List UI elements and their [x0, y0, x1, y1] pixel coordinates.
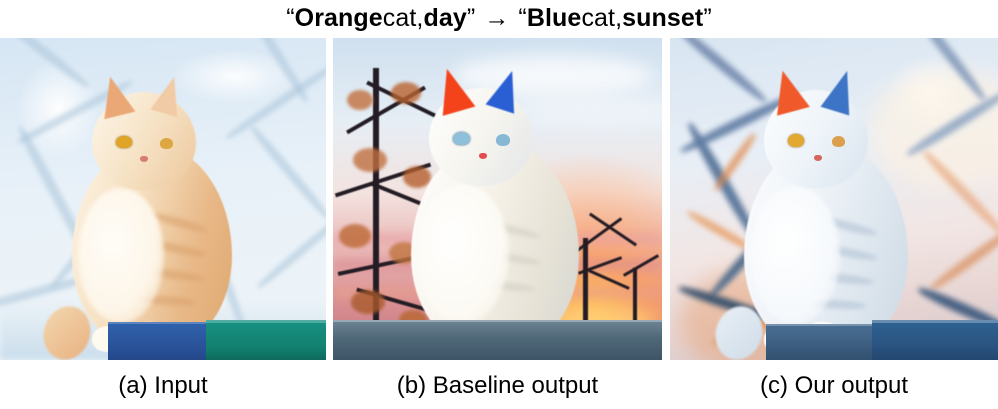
figure-container: “Orange cat, day”→“Blue cat, sunset”	[0, 0, 998, 409]
baseline-cat-chest	[417, 184, 509, 324]
caption-our-output: (c) Our output	[670, 362, 998, 409]
input-cat-chest	[78, 188, 164, 323]
title-plain-cat-1: cat,	[383, 4, 424, 33]
title-bold-day: day	[423, 4, 466, 33]
baseline-cat-eye-right	[496, 134, 510, 146]
input-cat-eye-right	[160, 138, 173, 149]
baseline-foliage	[391, 82, 421, 104]
title-bold-sunset: sunset	[622, 4, 703, 33]
baseline-cat-eye-left	[453, 132, 470, 145]
arrow-right-icon: →	[475, 4, 518, 33]
title-quote-open-1: “	[286, 4, 294, 33]
baseline-foliage	[353, 148, 387, 172]
panel-row	[0, 38, 998, 360]
caption-input: (a) Input	[0, 362, 326, 409]
title-bold-blue: Blue	[527, 4, 582, 33]
baseline-foliage	[403, 166, 431, 188]
our-output-cat-eye-right	[832, 136, 845, 147]
baseline-concrete-ledge	[333, 320, 662, 360]
baseline-foliage	[347, 90, 373, 110]
title-quote-close-2: ”	[703, 4, 711, 33]
baseline-foliage	[351, 290, 385, 314]
our-output-scene	[670, 38, 998, 360]
title-quote-open-2: “	[518, 4, 526, 33]
input-scene	[0, 38, 326, 360]
caption-baseline: (b) Baseline output	[333, 362, 662, 409]
input-green-box	[206, 320, 326, 360]
baseline-cat-nose	[479, 153, 487, 159]
caption-row: (a) Input (b) Baseline output (c) Our ou…	[0, 362, 998, 409]
title-bold-orange: Orange	[295, 4, 383, 33]
our-output-right-box	[872, 320, 998, 360]
baseline-scene	[333, 38, 662, 360]
baseline-foliage	[339, 224, 371, 248]
input-blue-box	[108, 322, 206, 360]
figure-title: “Orange cat, day”→“Blue cat, sunset”	[0, 0, 998, 36]
input-cat-nose	[140, 156, 148, 162]
title-quote-close-1: ”	[467, 4, 475, 33]
panel-our-output-image	[670, 38, 998, 360]
our-output-cat-nose	[814, 155, 822, 161]
our-output-cat-eye-left	[788, 134, 804, 147]
our-output-left-box	[766, 324, 872, 360]
panel-input-image	[0, 38, 326, 360]
panel-baseline-image	[333, 38, 662, 360]
our-output-cat-chest	[750, 186, 840, 324]
input-cat-eye-left	[116, 136, 132, 148]
title-plain-cat-2: cat,	[581, 4, 622, 33]
